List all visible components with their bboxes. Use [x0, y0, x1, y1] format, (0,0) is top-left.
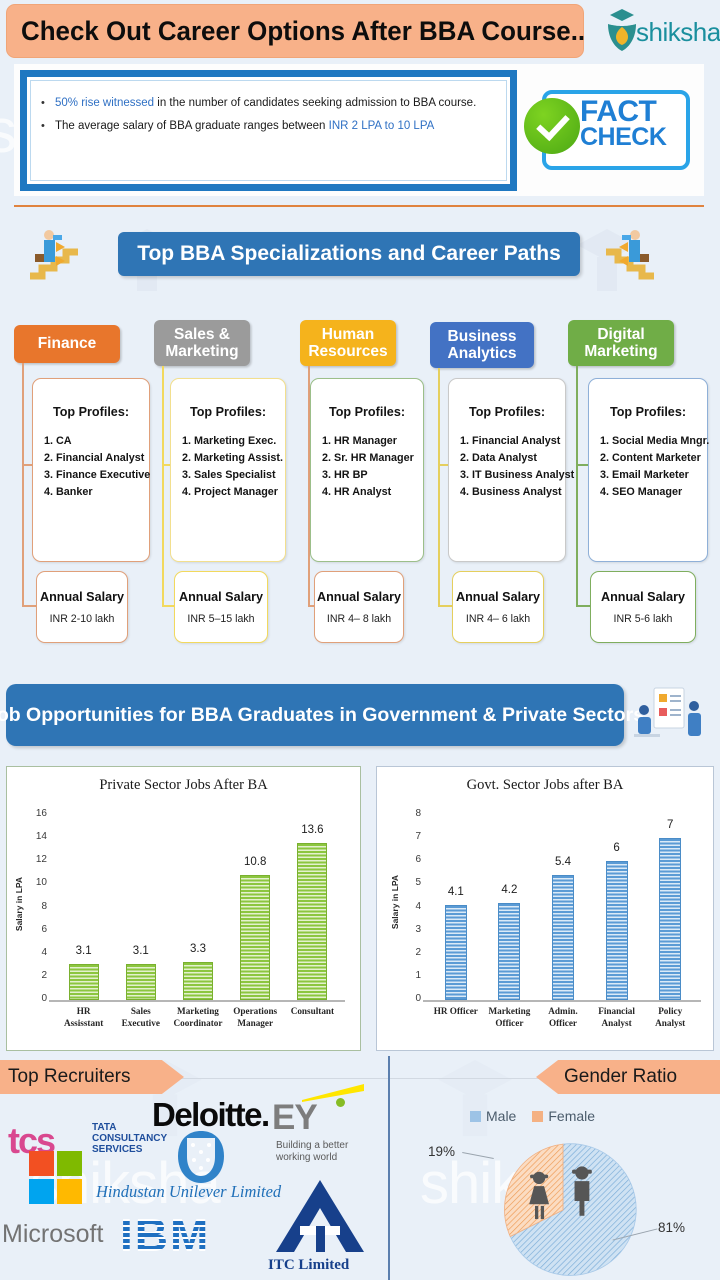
profiles-card-title: Top Profiles:	[311, 405, 423, 419]
infographic-page: shiksha shiksha shiksha shiksha shiksha …	[0, 0, 720, 1280]
specialization-header-label: Sales & Marketing	[160, 326, 244, 361]
check-circle-icon	[524, 98, 580, 154]
specialization-header-sales-marketing[interactable]: Sales & Marketing	[154, 320, 250, 366]
check-label: CHECK	[580, 126, 666, 149]
profile-list-item: 3. Finance Executive	[44, 467, 149, 484]
logo-ey: EY	[272, 1098, 317, 1138]
graduation-cap-watermark-icon	[430, 1055, 520, 1141]
profile-list-item: 3. Sales Specialist	[182, 467, 285, 484]
fact-highlight: INR 2 LPA to 10 LPA	[329, 120, 435, 132]
profiles-card-title: Top Profiles:	[449, 405, 565, 419]
profile-list-item: 1. Financial Analyst	[460, 433, 565, 450]
y-axis-tick: 4	[25, 947, 47, 958]
tcs-sub-3: SERVICES	[92, 1144, 167, 1155]
logo-hindustan-unilever: Hindustan Unilever Limited	[96, 1182, 281, 1202]
profiles-card-title: Top Profiles:	[589, 405, 707, 419]
profile-list-item: 2. Sr. HR Manager	[322, 450, 423, 467]
profiles-list: 1. Financial Analyst2. Data Analyst3. IT…	[449, 433, 565, 501]
pie-label-female: 19%	[428, 1144, 455, 1159]
bar	[659, 838, 681, 1000]
x-axis-tick-line: HR Officer	[427, 1006, 485, 1018]
meeting-illustration-icon	[632, 684, 706, 746]
y-axis-tick: 4	[399, 901, 421, 912]
salary-card: Annual SalaryINR 5–15 lakh	[174, 571, 268, 643]
businessman-stairs-icon	[26, 226, 88, 282]
x-axis-tick: SalesExecutive	[110, 1006, 171, 1029]
specialization-header-label: Human Resources	[306, 326, 390, 361]
profile-list-item: 3. Email Marketer	[600, 467, 707, 484]
pie-label-male: 81%	[658, 1220, 685, 1235]
fact-rest: in the number of candidates seeking admi…	[154, 97, 476, 109]
salary-card-title: Annual Salary	[40, 590, 124, 604]
fact-label: FACT	[580, 98, 666, 126]
x-axis-tick-line: Marketing	[481, 1006, 539, 1018]
x-axis-tick: HR Officer	[427, 1006, 485, 1018]
x-axis-tick: Consultant	[282, 1006, 343, 1018]
logo-microsoft: Microsoft	[2, 1220, 103, 1249]
bar	[606, 861, 628, 1000]
x-axis-tick-line: Assisstant	[53, 1018, 114, 1030]
jobs-banner-label: Job Opportunities for BBA Graduates in G…	[0, 704, 644, 727]
fact-box-inner: • 50% rise witnessed in the number of ca…	[30, 80, 507, 181]
bar	[445, 905, 467, 1000]
x-axis-tick: OperationsManager	[225, 1006, 286, 1029]
specializations-banner: Top BBA Specializations and Career Paths	[118, 232, 580, 276]
salary-card-title: Annual Salary	[179, 590, 263, 604]
y-axis-tick: 1	[399, 970, 421, 981]
bar	[69, 964, 99, 1000]
y-axis-tick: 14	[25, 831, 47, 842]
y-axis-tick: 0	[25, 993, 47, 1004]
fact-text: 50% rise witnessed in the number of cand…	[55, 93, 492, 114]
x-axis-tick-line: Consultant	[282, 1006, 343, 1018]
top-recruiters-tag: Top Recruiters	[0, 1060, 184, 1094]
legend-item-female: Female	[532, 1108, 595, 1124]
x-axis-tick-line: Operations	[225, 1006, 286, 1018]
private-sector-chart: Private Sector Jobs After BA Salary in L…	[6, 766, 361, 1051]
specialization-header-business-analytics[interactable]: Business Analytics	[430, 322, 534, 368]
specialization-header-finance[interactable]: Finance	[14, 325, 120, 363]
connector-line	[438, 368, 440, 605]
page-title: Check Out Career Options After BBA Cours…	[21, 16, 585, 47]
fact-check-text: FACT CHECK	[580, 98, 666, 149]
section-divider	[14, 205, 704, 207]
bar-value-label: 6	[587, 842, 647, 854]
profiles-list: 1. CA2. Financial Analyst3. Finance Exec…	[33, 433, 149, 501]
x-axis-tick: FinancialAnalyst	[588, 1006, 646, 1029]
profile-list-item: 4. Business Analyst	[460, 484, 565, 501]
specialization-header-digital-marketing[interactable]: Digital Marketing	[568, 320, 674, 366]
connector-line	[22, 464, 32, 466]
hul-wordmark: Hindustan Unilever Limited	[96, 1182, 281, 1201]
ey-wordmark: EY	[272, 1098, 317, 1137]
salary-card: Annual SalaryINR 2-10 lakh	[36, 571, 128, 643]
x-axis-line	[49, 1000, 345, 1002]
top-recruiters-label: Top Recruiters	[8, 1066, 131, 1088]
bar	[240, 875, 270, 1000]
fact-check-badge: FACT CHECK	[518, 76, 696, 184]
x-axis-tick-line: Executive	[110, 1018, 171, 1030]
y-axis-tick: 0	[399, 993, 421, 1004]
bar-value-label: 13.6	[282, 824, 342, 836]
businessman-stairs-icon	[596, 226, 658, 282]
x-axis-tick-line: Admin.	[534, 1006, 592, 1018]
y-axis-tick: 6	[399, 854, 421, 865]
specialization-header-label: Business Analytics	[436, 328, 528, 363]
page-title-banner: Check Out Career Options After BBA Cours…	[6, 4, 584, 58]
profile-list-item: 3. IT Business Analyst	[460, 467, 565, 484]
y-axis-tick: 12	[25, 854, 47, 865]
fact-item: • 50% rise witnessed in the number of ca…	[41, 93, 492, 114]
y-axis-tick: 5	[399, 877, 421, 888]
specializations-banner-label: Top BBA Specializations and Career Paths	[137, 242, 561, 266]
connector-line	[576, 605, 590, 607]
profile-list-item: 1. HR Manager	[322, 433, 423, 450]
profiles-card: Top Profiles:1. CA2. Financial Analyst3.…	[32, 378, 150, 562]
fact-highlight: 50% rise witnessed	[55, 97, 154, 109]
bar-value-label: 10.8	[225, 856, 285, 868]
salary-card: Annual SalaryINR 4– 6 lakh	[452, 571, 544, 643]
profile-list-item: 1. Marketing Exec.	[182, 433, 285, 450]
bar-value-label: 3.3	[168, 943, 228, 955]
fact-item: • The average salary of BBA graduate ran…	[41, 116, 492, 137]
legend-swatch-male	[470, 1111, 481, 1122]
profile-list-item: 4. Project Manager	[182, 484, 285, 501]
x-axis-tick-line: Officer	[534, 1018, 592, 1030]
ey-tagline-2: working world	[276, 1152, 348, 1164]
x-axis-tick-line: Coordinator	[167, 1018, 228, 1030]
x-axis-tick-line: Analyst	[588, 1018, 646, 1030]
profile-list-item: 1. Social Media Mngr.	[600, 433, 707, 450]
connector-line	[438, 464, 448, 466]
shiksha-logo: shiksha	[600, 5, 718, 55]
x-axis-tick: PolicyAnalyst	[641, 1006, 699, 1029]
profile-list-item: 4. HR Analyst	[322, 484, 423, 501]
profiles-card: Top Profiles:1. Marketing Exec.2. Market…	[170, 378, 286, 562]
bar-value-label: 4.1	[426, 886, 486, 898]
legend-item-male: Male	[470, 1108, 516, 1124]
y-axis-tick: 8	[399, 808, 421, 819]
ey-beam-icon	[300, 1082, 366, 1102]
y-axis-tick: 2	[25, 970, 47, 981]
bottom-vertical-divider	[388, 1056, 390, 1280]
y-axis-tick: 8	[25, 901, 47, 912]
salary-card-title: Annual Salary	[456, 590, 540, 604]
fact-text: The average salary of BBA graduate range…	[55, 116, 492, 137]
profile-list-item: 2. Financial Analyst	[44, 450, 149, 467]
salary-card-title: Annual Salary	[601, 590, 685, 604]
bar-value-label: 3.1	[54, 945, 114, 957]
profiles-card: Top Profiles:1. Social Media Mngr.2. Con…	[588, 378, 708, 562]
y-axis-tick: 10	[25, 877, 47, 888]
salary-card-title: Annual Salary	[317, 590, 401, 604]
chart-title: Private Sector Jobs After BA	[7, 777, 360, 794]
salary-card-value: INR 5–15 lakh	[187, 613, 254, 625]
profile-list-item: 2. Data Analyst	[460, 450, 565, 467]
y-axis-tick: 16	[25, 808, 47, 819]
profiles-card: Top Profiles:1. Financial Analyst2. Data…	[448, 378, 566, 562]
x-axis-tick-line: Sales	[110, 1006, 171, 1018]
connector-line	[162, 605, 174, 607]
x-axis-line	[423, 1000, 701, 1002]
salary-card: Annual SalaryINR 5-6 lakh	[590, 571, 696, 643]
profile-list-item: 2. Marketing Assist.	[182, 450, 285, 467]
fact-check-panel: • 50% rise witnessed in the number of ca…	[14, 64, 704, 196]
legend-label-female: Female	[548, 1108, 595, 1124]
connector-line	[576, 366, 578, 605]
connector-line	[162, 464, 170, 466]
bar-value-label: 4.2	[479, 884, 539, 896]
logo-ibm: IBM	[120, 1208, 210, 1262]
legend-label-male: Male	[486, 1108, 516, 1124]
pie-legend: Male Female	[470, 1108, 595, 1124]
x-axis-tick-line: Manager	[225, 1018, 286, 1030]
chart-plot-area: 02468101214163.1HRAssisstant3.1SalesExec…	[55, 815, 341, 1000]
salary-card-value: INR 5-6 lakh	[614, 613, 673, 625]
microsoft-wordmark: Microsoft	[2, 1220, 103, 1248]
x-axis-tick-line: Marketing	[167, 1006, 228, 1018]
tcs-sub-2: CONSULTANCY	[92, 1133, 167, 1144]
salary-card-value: INR 4– 6 lakh	[466, 613, 530, 625]
x-axis-tick-line: HR	[53, 1006, 114, 1018]
salary-card-value: INR 4– 8 lakh	[327, 613, 391, 625]
profile-list-item: 4. Banker	[44, 484, 149, 501]
bullet-icon: •	[41, 93, 55, 114]
profile-list-item: 4. SEO Manager	[600, 484, 707, 501]
specialization-header-label: Finance	[38, 335, 97, 352]
x-axis-tick: HRAssisstant	[53, 1006, 114, 1029]
microsoft-squares-icon	[28, 1150, 84, 1206]
chart-title: Govt. Sector Jobs after BA	[377, 777, 713, 794]
ey-tagline-1: Building a better	[276, 1140, 348, 1152]
ibm-wordmark: IBM	[120, 1209, 210, 1261]
bar	[183, 962, 213, 1000]
govt-sector-chart: Govt. Sector Jobs after BA Salary in LPA…	[376, 766, 714, 1051]
profile-list-item: 2. Content Marketer	[600, 450, 707, 467]
jobs-banner: Job Opportunities for BBA Graduates in G…	[6, 684, 624, 746]
profiles-list: 1. Social Media Mngr.2. Content Marketer…	[589, 433, 707, 501]
logo-ey-tagline: Building a better working world	[276, 1140, 348, 1164]
gender-pie-chart	[478, 1140, 648, 1280]
x-axis-tick-line: Officer	[481, 1018, 539, 1030]
x-axis-tick-line: Analyst	[641, 1018, 699, 1030]
legend-swatch-female	[532, 1111, 543, 1122]
unilever-u-icon	[172, 1128, 230, 1186]
profiles-list: 1. HR Manager2. Sr. HR Manager3. HR BP4.…	[311, 433, 423, 501]
y-axis-tick: 3	[399, 924, 421, 935]
salary-card: Annual SalaryINR 4– 8 lakh	[314, 571, 404, 643]
connector-line	[22, 363, 24, 605]
x-axis-tick: MarketingCoordinator	[167, 1006, 228, 1029]
bar-value-label: 5.4	[533, 856, 593, 868]
y-axis-tick: 2	[399, 947, 421, 958]
fact-lead: The average salary of BBA graduate range…	[55, 120, 329, 132]
specialization-header-label: Digital Marketing	[574, 326, 668, 361]
bar-value-label: 3.1	[111, 945, 171, 957]
shiksha-wordmark: shiksha	[636, 17, 720, 48]
bar	[297, 843, 327, 1000]
connector-line	[22, 605, 36, 607]
bar	[126, 964, 156, 1000]
salary-card-value: INR 2-10 lakh	[50, 613, 115, 625]
x-axis-tick: Admin.Officer	[534, 1006, 592, 1029]
connector-line	[162, 366, 164, 605]
x-axis-tick-line: Financial	[588, 1006, 646, 1018]
bullet-icon: •	[41, 116, 55, 137]
y-axis-tick: 7	[399, 831, 421, 842]
profiles-card-title: Top Profiles:	[33, 405, 149, 419]
profile-list-item: 3. HR BP	[322, 467, 423, 484]
connector-line	[438, 605, 452, 607]
chart-y-axis-label: Salary in LPA	[14, 864, 24, 944]
x-axis-tick-line: Policy	[641, 1006, 699, 1018]
x-axis-tick: MarketingOfficer	[481, 1006, 539, 1029]
profiles-card: Top Profiles:1. HR Manager2. Sr. HR Mana…	[310, 378, 424, 562]
fact-box: • 50% rise witnessed in the number of ca…	[20, 70, 517, 191]
y-axis-tick: 6	[25, 924, 47, 935]
itc-logo-icon	[272, 1178, 368, 1254]
profiles-list: 1. Marketing Exec.2. Marketing Assist.3.…	[171, 433, 285, 501]
gender-ratio-label: Gender Ratio	[564, 1066, 677, 1088]
gender-ratio-tag: Gender Ratio	[536, 1060, 720, 1094]
profile-list-item: 1. CA	[44, 433, 149, 450]
logo-itc: ITC Limited	[268, 1256, 349, 1274]
itc-wordmark: ITC Limited	[268, 1257, 349, 1273]
bar	[498, 903, 520, 1000]
connector-line	[576, 464, 588, 466]
bar	[552, 875, 574, 1000]
specialization-header-human-resources[interactable]: Human Resources	[300, 320, 396, 366]
profiles-card-title: Top Profiles:	[171, 405, 285, 419]
bar-value-label: 7	[640, 819, 700, 831]
chart-plot-area: 0123456784.1HR Officer4.2MarketingOffice…	[429, 815, 697, 1000]
